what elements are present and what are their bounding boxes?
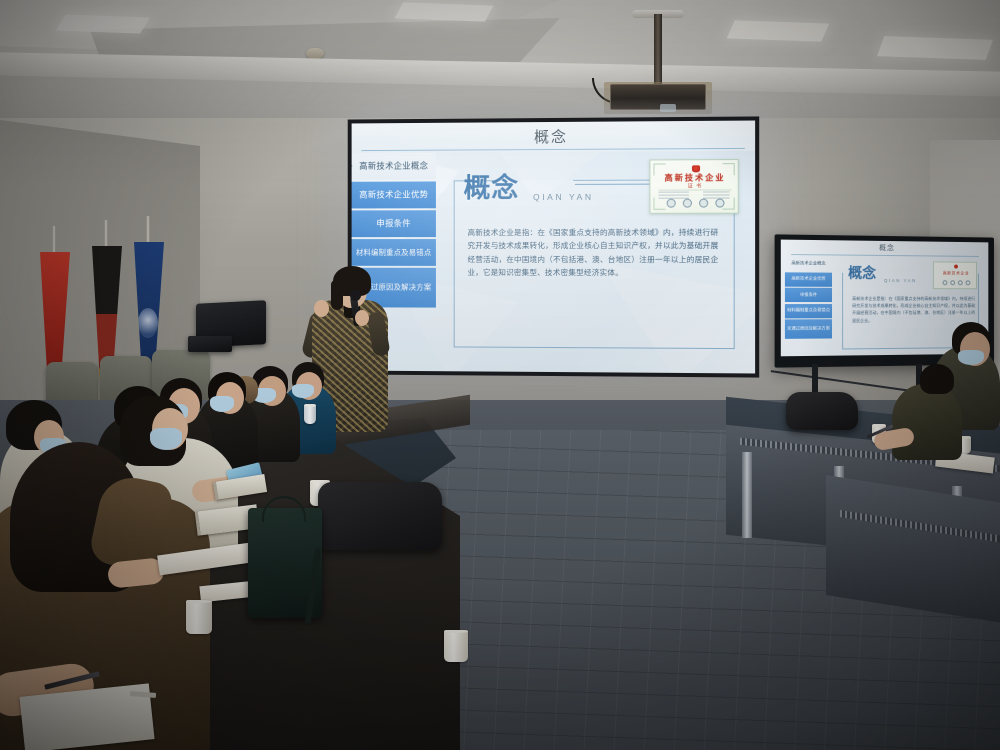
presenter-hair-side bbox=[331, 280, 343, 310]
flag-emblem-icon bbox=[138, 308, 158, 338]
projector-lens-icon bbox=[660, 104, 676, 112]
paper-cup bbox=[186, 600, 212, 634]
tv-certificate-image: 高新技术企业 bbox=[933, 261, 977, 289]
tv-certificate-seal-icon bbox=[950, 280, 955, 285]
tv-certificate-seal-icon bbox=[942, 280, 947, 285]
ceiling-light bbox=[56, 14, 150, 33]
slide-sidebar-item-2: 申报条件 bbox=[352, 210, 436, 237]
flag-pole bbox=[146, 216, 150, 246]
slide-heading-en: QIAN YAN bbox=[533, 192, 594, 202]
ceiling-light bbox=[727, 20, 830, 41]
certificate-seal-icon bbox=[682, 199, 691, 208]
slide-body-text: 高新技术企业是指：在《国家重点支持的高新技术领域》内，持续进行研究开发与技术成果… bbox=[468, 226, 719, 280]
flag-pole bbox=[52, 226, 56, 256]
tv-body-text: 高新技术企业是指：在《国家重点支持的高新技术领域》内，持续进行研究开发与技术成果… bbox=[852, 295, 975, 324]
certificate-seal-icon bbox=[666, 199, 675, 208]
tv-sidebar-item-0: 高新技术企业概念 bbox=[785, 256, 832, 271]
tv-certificate-title: 高新技术企业 bbox=[934, 270, 978, 276]
tv-heading-en: QIAN YAN bbox=[884, 278, 917, 283]
tv-certificate-seal-icon bbox=[957, 280, 962, 285]
table-leg bbox=[742, 452, 752, 538]
slide-sidebar-item-3: 材料编制重点及易错点 bbox=[352, 239, 436, 266]
tv-certificate-emblem-icon bbox=[954, 265, 958, 269]
projector-pole bbox=[654, 14, 662, 86]
paper-cup bbox=[444, 630, 468, 662]
ceiling-light bbox=[877, 36, 993, 60]
tv-sidebar-item-4: 未通过原因及解决方案 bbox=[785, 319, 832, 339]
projector-body bbox=[610, 84, 706, 110]
face-mask bbox=[210, 396, 234, 412]
ceiling bbox=[0, 0, 1000, 128]
tv-sidebar-item-2: 申报条件 bbox=[785, 288, 832, 302]
tv-certificate-seal-icon bbox=[965, 280, 970, 285]
flag-pole bbox=[104, 220, 108, 250]
presenter-left-hand bbox=[314, 300, 329, 317]
slide-sidebar-item-1: 高新技术企业优势 bbox=[352, 181, 436, 208]
tv-sidebar-item-1: 高新技术企业优势 bbox=[785, 272, 832, 286]
backpack bbox=[318, 482, 442, 550]
laptop-base bbox=[188, 336, 232, 352]
tv-certificate-seals bbox=[934, 280, 978, 285]
face-mask bbox=[958, 350, 984, 365]
certificate-seal-icon bbox=[699, 199, 708, 208]
certificate-seal-icon bbox=[715, 199, 724, 208]
tv-slide-title: 概念 bbox=[781, 242, 989, 254]
slide-title-bar: 概念 bbox=[352, 121, 756, 154]
meeting-room-photo: 概念 高新技术企业概念 高新技术企业优势 申报条件 材料编制重点及易错点 未通过… bbox=[0, 0, 1000, 750]
attendee-hair bbox=[920, 364, 954, 394]
tv-heading-cn: 概念 bbox=[848, 263, 876, 283]
water-bottle bbox=[304, 404, 316, 424]
tv-sidebar-item-3: 材料编制重点及易错点 bbox=[785, 304, 832, 318]
attendee-torso bbox=[892, 384, 962, 460]
projected-slide: 概念 高新技术企业概念 高新技术企业优势 申报条件 材料编制重点及易错点 未通过… bbox=[352, 121, 756, 374]
tv-slide-sidebar: 高新技术企业概念 高新技术企业优势 申报条件 材料编制重点及易错点 未通过原因及… bbox=[785, 256, 832, 340]
certificate-emblem-icon bbox=[692, 165, 700, 172]
certificate-text-right bbox=[703, 191, 729, 198]
slide-content: 概念 QIAN YAN 高新技术企业 证 书 bbox=[446, 161, 743, 363]
certificate-seals bbox=[650, 198, 739, 207]
projection-screen: 概念 高新技术企业概念 高新技术企业优势 申报条件 材料编制重点及易错点 未通过… bbox=[348, 116, 759, 377]
slide-title: 概念 bbox=[352, 125, 756, 149]
ceiling-light bbox=[395, 2, 494, 21]
face-mask bbox=[150, 428, 182, 450]
certificate-image: 高新技术企业 证 书 bbox=[649, 159, 738, 214]
certificate-rule bbox=[659, 189, 732, 190]
presenter-right-hand bbox=[355, 310, 369, 326]
slide-heading-cn: 概念 bbox=[464, 166, 520, 205]
backpack bbox=[786, 392, 858, 430]
microphone-head-icon bbox=[350, 290, 361, 301]
slide-sidebar-item-0: 高新技术企业概念 bbox=[352, 153, 436, 180]
face-mask bbox=[292, 384, 314, 398]
